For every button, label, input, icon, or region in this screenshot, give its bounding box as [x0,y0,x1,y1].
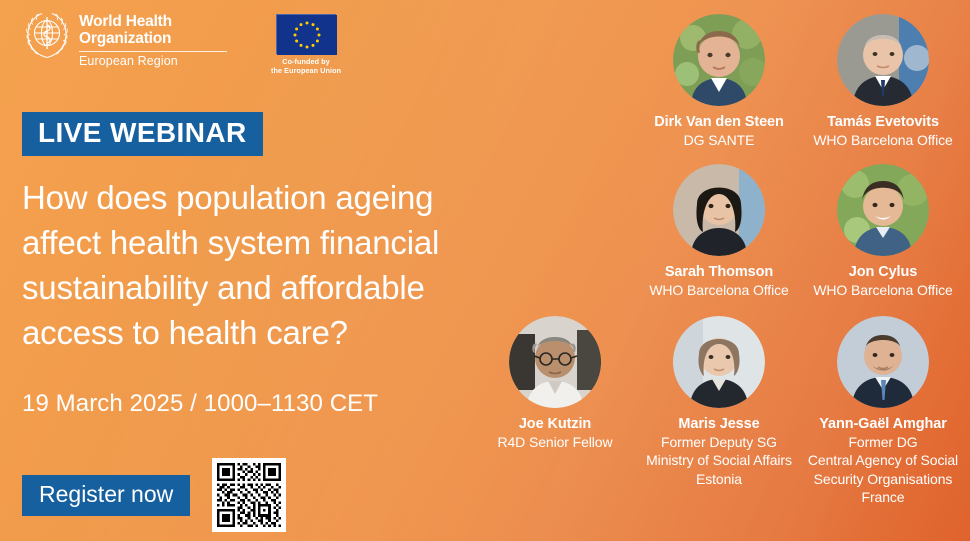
avatar [837,164,929,256]
speaker-grid: Dirk Van den Steen DG SANTE [478,0,970,541]
avatar [837,14,929,106]
live-webinar-badge: LIVE WEBINAR [22,112,263,156]
avatar [509,316,601,408]
page-title: How does population ageing affect health… [22,176,514,356]
avatar [673,316,765,408]
event-datetime: 19 March 2025 / 1000–1130 CET [22,390,378,418]
who-emblem-icon [22,10,72,60]
speaker-name: Maris Jesse [637,415,801,433]
speaker-role: WHO Barcelona Office [801,281,965,299]
speaker-role: Former Deputy SG Ministry of Social Affa… [637,433,801,488]
speaker-name: Jon Cylus [801,263,965,281]
speaker-role: WHO Barcelona Office [637,281,801,299]
eu-funding-logo: Co-funded by the European Union [271,10,341,75]
speaker-card: Jon Cylus WHO Barcelona Office [801,164,965,299]
webinar-poster: World Health Organization European Regio… [0,0,970,541]
logo-row: World Health Organization European Regio… [22,10,341,75]
avatar [837,316,929,408]
who-wordmark: World Health Organization European Regio… [79,10,227,69]
speaker-card: Yann-Gaël Amghar Former DG Central Agenc… [801,316,965,506]
qr-code[interactable] [212,458,286,532]
speaker-role: R4D Senior Fellow [473,433,637,451]
speaker-card: Joe Kutzin R4D Senior Fellow [473,316,637,451]
register-now-button[interactable]: Register now [22,475,190,516]
speaker-card: Dirk Van den Steen DG SANTE [637,14,801,149]
who-organization-name: World Health Organization [79,14,227,47]
speaker-role: Former DG Central Agency of Social Secur… [801,433,965,506]
speaker-card: Sarah Thomson WHO Barcelona Office [637,164,801,299]
speaker-name: Yann-Gaël Amghar [801,415,965,433]
speaker-role: DG SANTE [637,131,801,149]
speaker-role: WHO Barcelona Office [801,131,965,149]
eu-funding-caption: Co-funded by the European Union [271,57,341,75]
speaker-name: Sarah Thomson [637,263,801,281]
avatar [673,14,765,106]
who-divider-rule [79,51,227,52]
speaker-card: Maris Jesse Former Deputy SG Ministry of… [637,316,801,488]
speaker-name: Dirk Van den Steen [637,113,801,131]
eu-flag-icon [276,14,336,54]
speaker-card: Tamás Evetovits WHO Barcelona Office [801,14,965,149]
avatar [673,164,765,256]
speaker-name: Tamás Evetovits [801,113,965,131]
who-logo: World Health Organization European Regio… [22,10,227,69]
speaker-name: Joe Kutzin [473,415,637,433]
who-region-label: European Region [79,55,227,69]
cta-row: Register now [22,458,286,532]
